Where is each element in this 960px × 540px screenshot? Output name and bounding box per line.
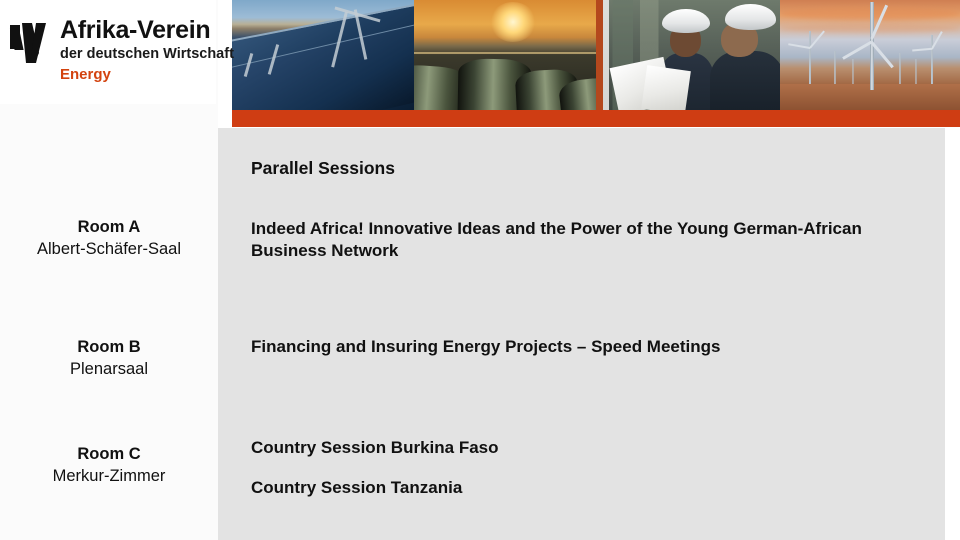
wind-turbine-tower: [899, 53, 901, 84]
rust-column: [596, 0, 603, 110]
wind-turbine-tower: [915, 59, 917, 83]
session-title-a: Indeed Africa! Innovative Ideas and the …: [251, 218, 909, 263]
wind-turbine-blade: [912, 47, 932, 51]
blueprint-paper: [641, 65, 691, 110]
room-label-c: Room C Merkur-Zimmer: [0, 443, 218, 488]
room-venue-a: Albert-Schäfer-Saal: [0, 238, 218, 260]
afrika-verein-av-mark-icon: [8, 19, 54, 67]
header-image-band: [232, 0, 960, 110]
pipeline-sunset-photo: [414, 0, 596, 110]
slide-canvas: Afrika-Verein der deutschen Wirtschaft E…: [0, 0, 960, 540]
page-title: Parallel Sessions: [251, 158, 395, 179]
wind-turbine-tower: [834, 51, 836, 84]
wind-farm-photo: [780, 0, 960, 110]
solar-trough-photo: [232, 0, 414, 110]
wind-turbine-blade: [809, 31, 825, 49]
logo-division: Energy: [60, 66, 234, 84]
wind-turbine-tower: [852, 59, 854, 83]
logo-subtitle: der deutschen Wirtschaft: [60, 46, 234, 63]
engineers-photo: [596, 0, 780, 110]
session-list-c: Country Session Burkina Faso Country Ses…: [251, 437, 911, 500]
logo: Afrika-Verein der deutschen Wirtschaft E…: [0, 0, 216, 104]
room-name-b: Room B: [0, 336, 218, 358]
sun-glow: [490, 2, 536, 42]
room-label-b: Room B Plenarsaal: [0, 336, 218, 381]
horizon-line: [414, 52, 596, 54]
wind-turbine-tower: [809, 31, 811, 84]
wind-turbine-blade: [842, 40, 872, 59]
room-name-a: Room A: [0, 216, 218, 238]
room-name-c: Room C: [0, 443, 218, 465]
wind-turbine-blade: [788, 44, 810, 50]
worker-left-helmet: [662, 9, 710, 33]
orange-accent-bar: [232, 110, 960, 127]
session-title-c2: Country Session Tanzania: [251, 477, 911, 499]
logo-title: Afrika-Verein: [60, 18, 234, 44]
wind-turbine-tower: [931, 35, 933, 83]
worker-right-body: [710, 51, 780, 110]
room-venue-b: Plenarsaal: [0, 358, 218, 380]
room-label-a: Room A Albert-Schäfer-Saal: [0, 216, 218, 261]
room-venue-c: Merkur-Zimmer: [0, 465, 218, 487]
session-title-c1: Country Session Burkina Faso: [251, 437, 911, 459]
worker-right-helmet: [725, 4, 777, 29]
session-title-b: Financing and Insuring Energy Projects –…: [251, 336, 911, 358]
